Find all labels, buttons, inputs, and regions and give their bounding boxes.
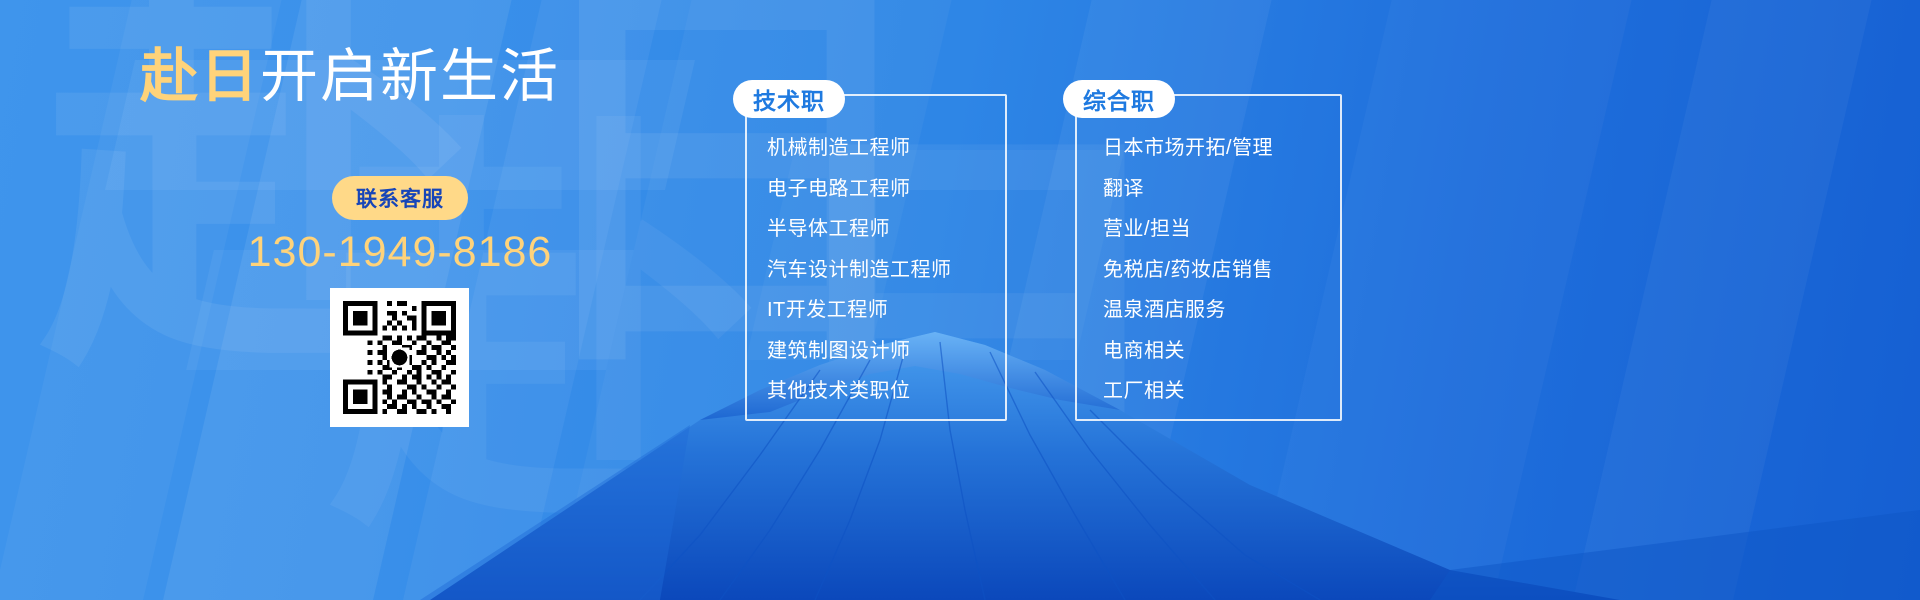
page-title: 赴日开启新生活 [0, 45, 700, 109]
phone-number[interactable]: 130-1949-8186 [0, 228, 800, 277]
job-list-technical: 机械制造工程师 电子电路工程师 半导体工程师 汽车设计制造工程师 IT开发工程师… [767, 128, 952, 412]
list-item[interactable]: 营业/担当 [1103, 209, 1273, 250]
list-item[interactable]: 其他技术类职位 [767, 371, 952, 412]
page-title-rest: 开启新生活 [260, 44, 560, 109]
contact-support-button[interactable]: 联系客服 [332, 176, 468, 220]
list-item[interactable]: 翻译 [1103, 169, 1273, 210]
page-title-accent: 赴日 [140, 44, 260, 109]
list-item[interactable]: 汽车设计制造工程师 [767, 250, 952, 291]
list-item[interactable]: 工厂相关 [1103, 371, 1273, 412]
panel-badge-technical[interactable]: 技术职 [733, 80, 845, 118]
list-item[interactable]: 机械制造工程师 [767, 128, 952, 169]
list-item[interactable]: 半导体工程师 [767, 209, 952, 250]
promo-banner: 赴日 赴日 [0, 0, 1920, 600]
list-item[interactable]: 电商相关 [1103, 331, 1273, 372]
list-item[interactable]: 温泉酒店服务 [1103, 290, 1273, 331]
job-list-general: 日本市场开拓/管理 翻译 营业/担当 免税店/药妆店销售 温泉酒店服务 电商相关… [1103, 128, 1273, 412]
wechat-qr-code[interactable] [330, 288, 469, 427]
list-item[interactable]: 建筑制图设计师 [767, 331, 952, 372]
list-item[interactable]: 电子电路工程师 [767, 169, 952, 210]
qr-code-image [338, 296, 461, 419]
panel-badge-general[interactable]: 综合职 [1063, 80, 1175, 118]
list-item[interactable]: 免税店/药妆店销售 [1103, 250, 1273, 291]
left-content-column: 赴日开启新生活 联系客服 130-1949-8186 [0, 0, 700, 600]
list-item[interactable]: IT开发工程师 [767, 290, 952, 331]
list-item[interactable]: 日本市场开拓/管理 [1103, 128, 1273, 169]
